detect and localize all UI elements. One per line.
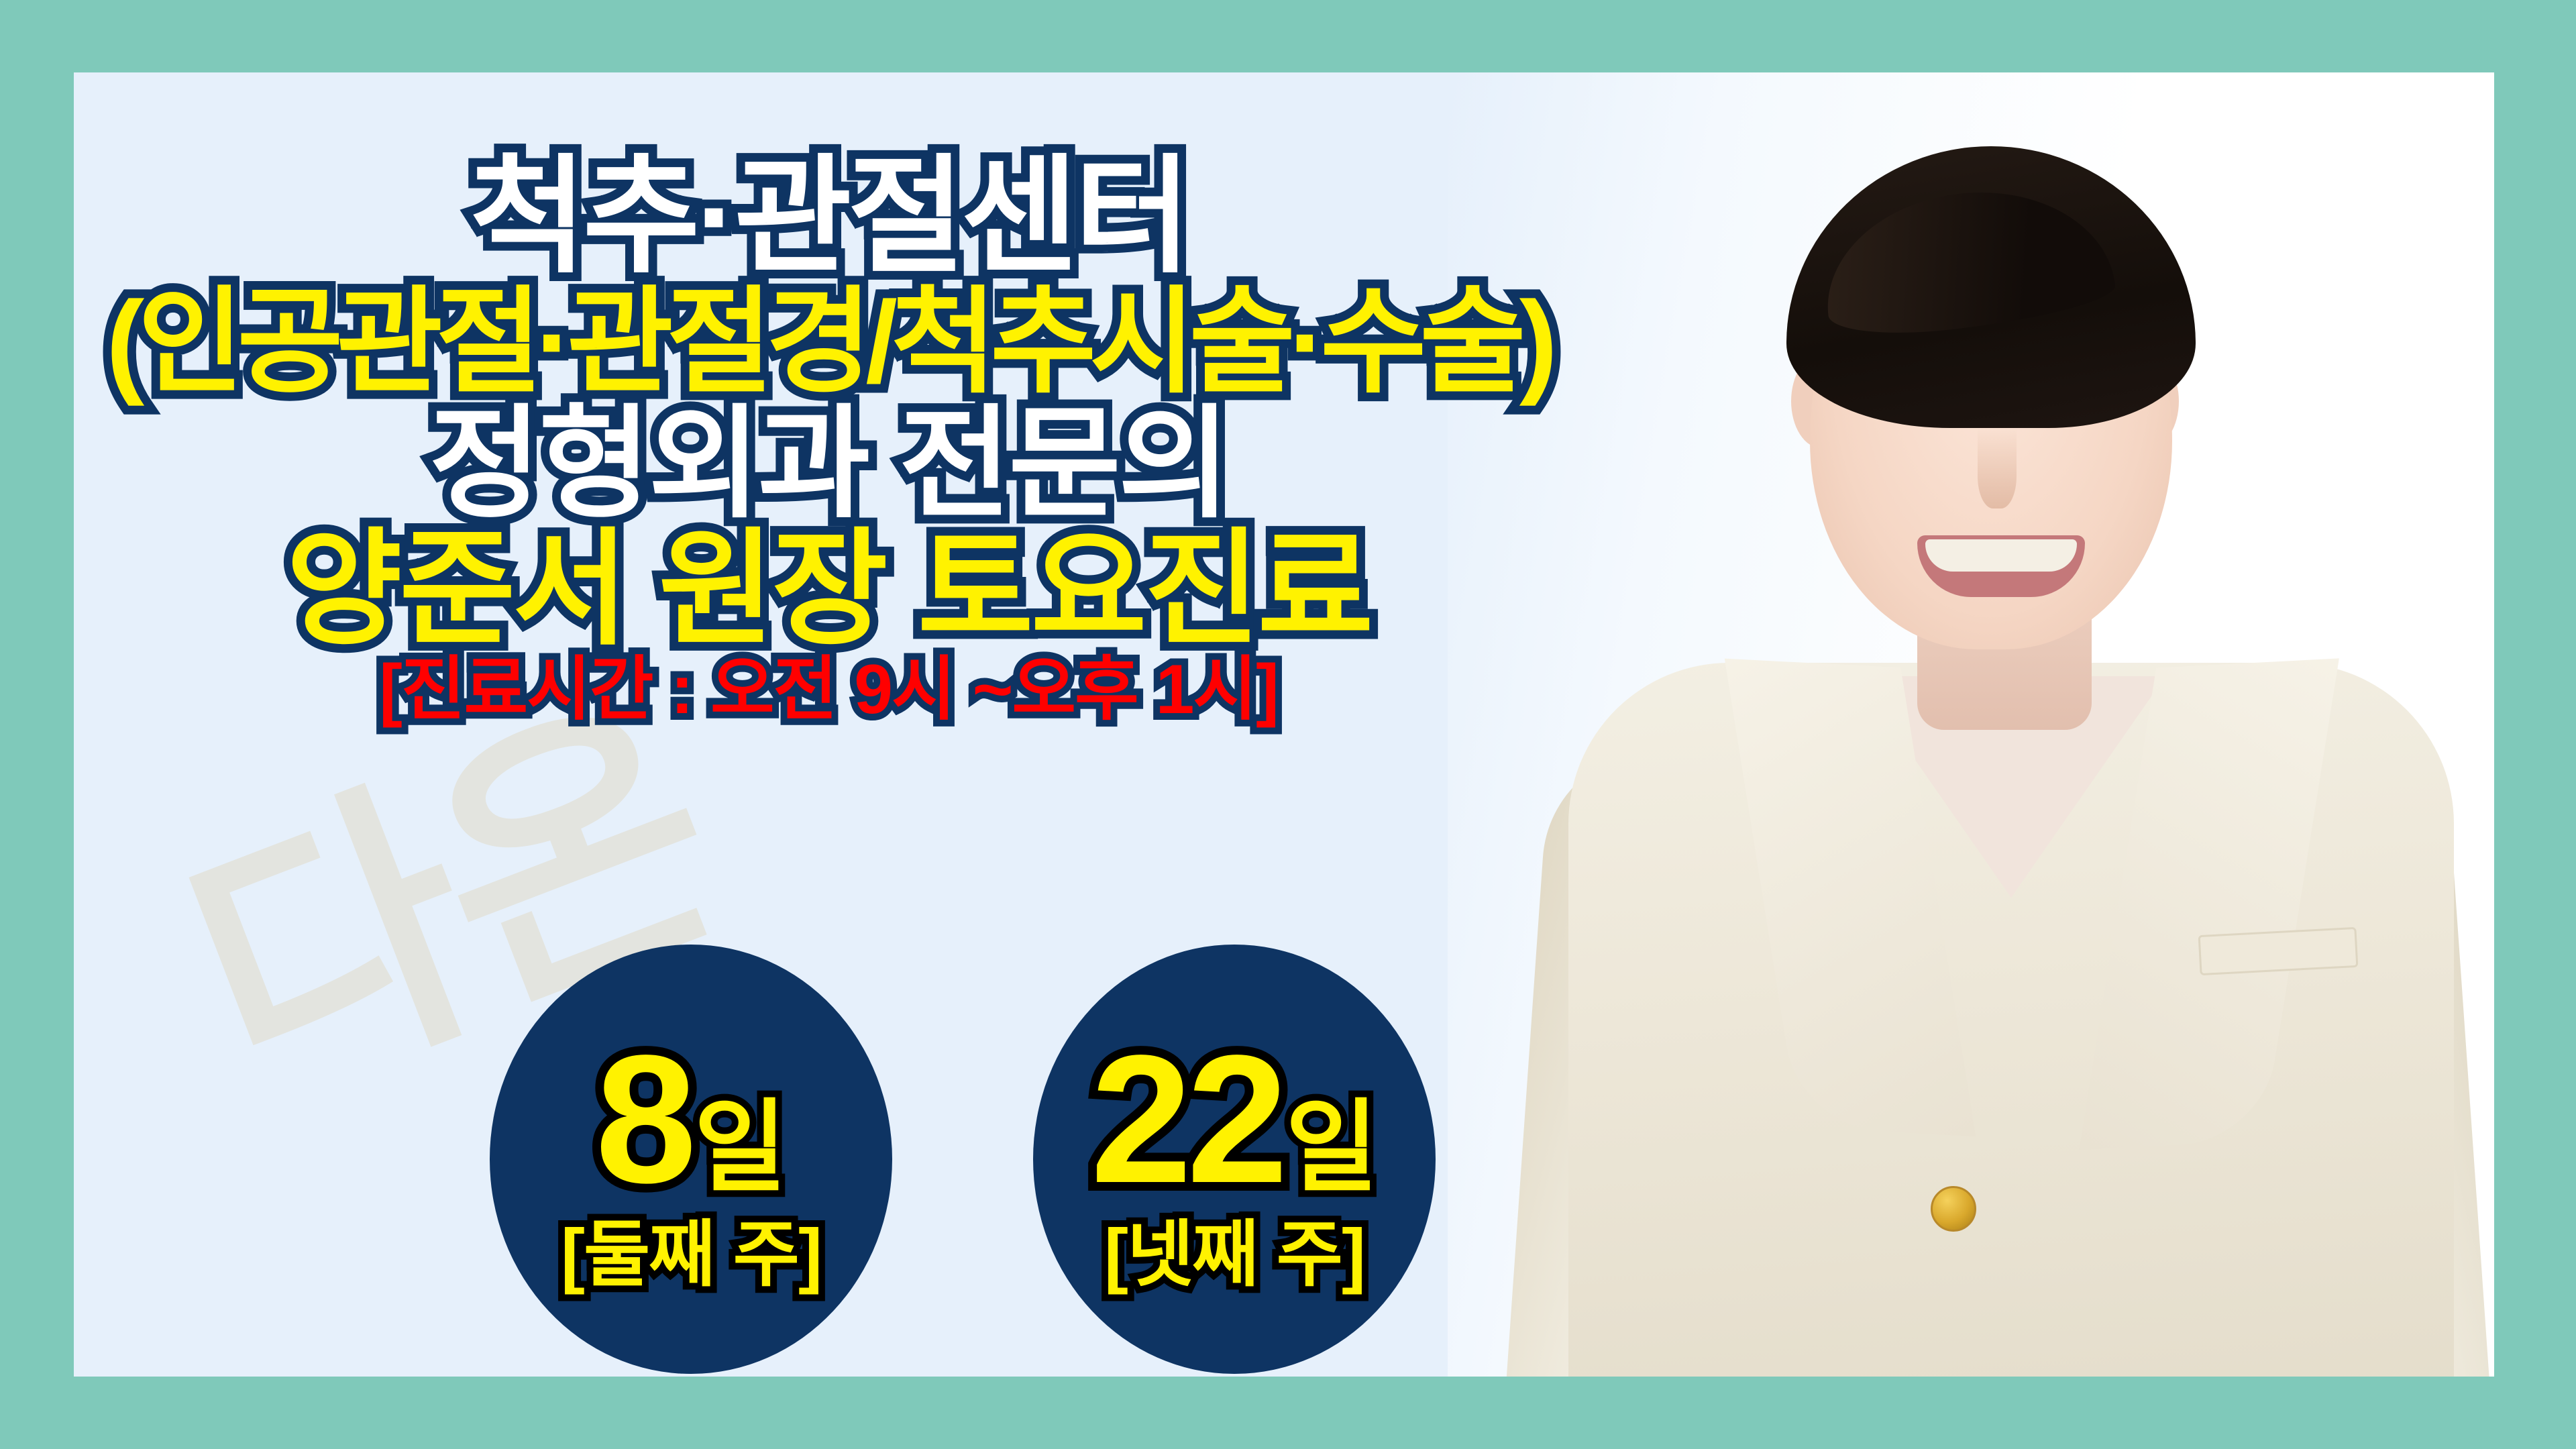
nose	[1978, 428, 2017, 508]
doctor-photo	[1448, 72, 2494, 1377]
date-badges: 8 일 [둘째 주] 22 일 [넷째 주]	[470, 945, 1543, 1377]
headline-line-2: (인공관절·관절경/척추시술·수술)	[74, 284, 1583, 400]
mouth	[1917, 535, 2085, 597]
date-badge-fourth-week: 22 일 [넷째 주]	[1033, 945, 1436, 1374]
badge-day-unit: 일	[1285, 1097, 1378, 1197]
headline-line-3: 정형외과 전문의	[74, 402, 1583, 525]
badge-week-label: [넷째 주]	[1104, 1218, 1364, 1291]
badge-day-unit: 일	[694, 1097, 787, 1197]
inner-panel: 다온	[74, 72, 2494, 1377]
headline-line-1: 척추·관절센터	[74, 153, 1583, 280]
badge-day-group: 8 일	[595, 1028, 786, 1210]
headline-line-4: 양준서 원장 토요진료	[74, 526, 1583, 652]
badge-day-number: 22	[1091, 1028, 1283, 1210]
consultation-hours: [진료시간 : 오전 9시 ~오후 1시]	[74, 655, 1583, 724]
badge-day-group: 22 일	[1091, 1028, 1379, 1210]
promo-banner: 다온	[0, 0, 2576, 1449]
teeth	[1925, 539, 2077, 572]
badge-day-number: 8	[595, 1028, 691, 1210]
date-badge-second-week: 8 일 [둘째 주]	[490, 945, 892, 1374]
doctor-figure	[1448, 72, 2494, 1377]
headline-block: 척추·관절센터 (인공관절·관절경/척추시술·수술) 정형외과 전문의 양준서 …	[74, 153, 1583, 724]
jacket-button	[1931, 1186, 1976, 1232]
badge-week-label: [둘째 주]	[561, 1218, 821, 1291]
jacket-pocket	[2198, 927, 2359, 975]
